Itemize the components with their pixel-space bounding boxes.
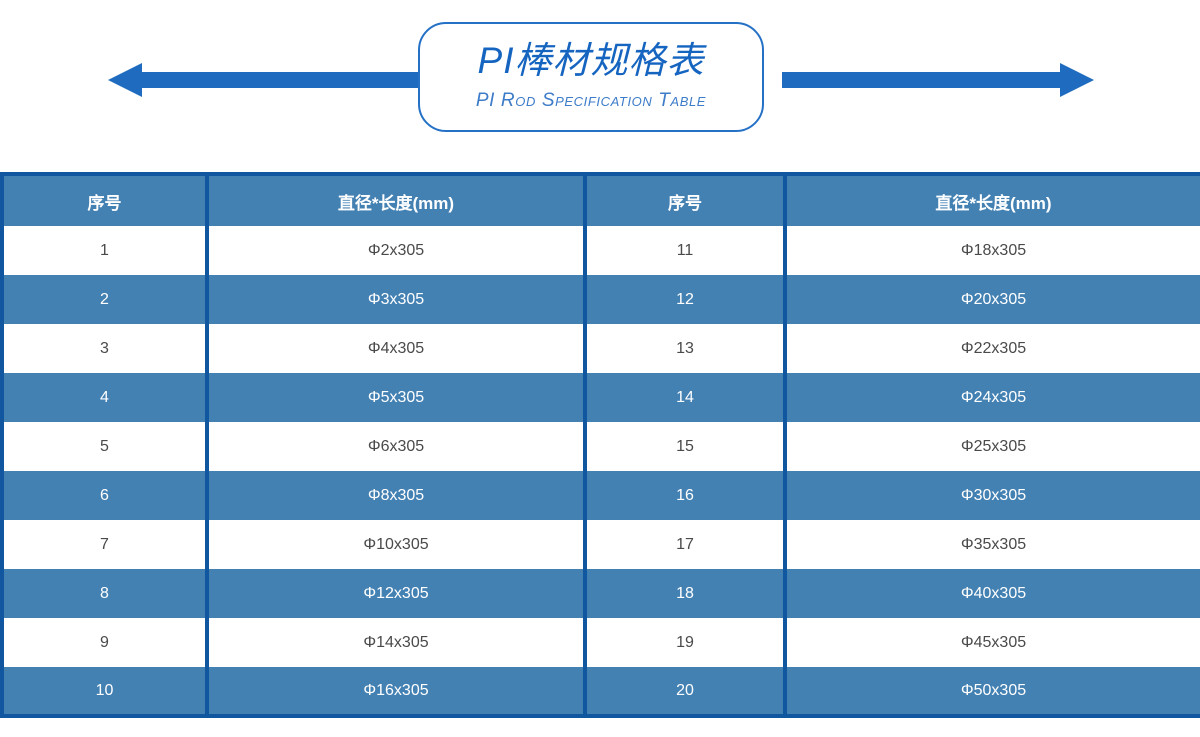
left-arrow-bar [140, 72, 420, 88]
cell-spec-left: Φ2x305 [207, 226, 585, 275]
cell-no-right: 11 [585, 226, 785, 275]
cell-no-right: 16 [585, 471, 785, 520]
table-row: 5Φ6x30515Φ25x305 [2, 422, 1200, 471]
cell-spec-right: Φ45x305 [785, 618, 1200, 667]
cell-spec-right: Φ20x305 [785, 275, 1200, 324]
table-header-row: 序号 直径*长度(mm) 序号 直径*长度(mm) [2, 174, 1200, 226]
cell-no-left: 10 [2, 667, 207, 716]
cell-spec-left: Φ16x305 [207, 667, 585, 716]
title-banner: PI棒材规格表 PI Rod Specification Table [418, 22, 764, 132]
spec-table-container: 序号 直径*长度(mm) 序号 直径*长度(mm) 1Φ2x30511Φ18x3… [0, 172, 1200, 718]
cell-spec-right: Φ25x305 [785, 422, 1200, 471]
page-subtitle: PI Rod Specification Table [476, 90, 706, 112]
left-arrow-icon [0, 72, 420, 88]
cell-no-right: 13 [585, 324, 785, 373]
cell-spec-left: Φ4x305 [207, 324, 585, 373]
cell-no-left: 1 [2, 226, 207, 275]
cell-no-right: 17 [585, 520, 785, 569]
table-row: 8Φ12x30518Φ40x305 [2, 569, 1200, 618]
cell-no-left: 5 [2, 422, 207, 471]
cell-no-left: 2 [2, 275, 207, 324]
cell-spec-right: Φ30x305 [785, 471, 1200, 520]
table-row: 7Φ10x30517Φ35x305 [2, 520, 1200, 569]
table-row: 6Φ8x30516Φ30x305 [2, 471, 1200, 520]
cell-no-left: 4 [2, 373, 207, 422]
page-header: PI棒材规格表 PI Rod Specification Table [0, 0, 1200, 172]
right-arrow-icon [782, 72, 1200, 88]
cell-no-right: 15 [585, 422, 785, 471]
cell-spec-left: Φ6x305 [207, 422, 585, 471]
cell-spec-left: Φ5x305 [207, 373, 585, 422]
table-row: 1Φ2x30511Φ18x305 [2, 226, 1200, 275]
cell-spec-left: Φ14x305 [207, 618, 585, 667]
cell-spec-right: Φ18x305 [785, 226, 1200, 275]
cell-spec-right: Φ22x305 [785, 324, 1200, 373]
table-header: 序号 直径*长度(mm) 序号 直径*长度(mm) [2, 174, 1200, 226]
cell-no-right: 14 [585, 373, 785, 422]
column-header-no-right: 序号 [585, 174, 785, 226]
cell-spec-left: Φ12x305 [207, 569, 585, 618]
cell-no-left: 8 [2, 569, 207, 618]
cell-spec-right: Φ50x305 [785, 667, 1200, 716]
column-header-no-left: 序号 [2, 174, 207, 226]
cell-no-right: 19 [585, 618, 785, 667]
right-arrow-bar [782, 72, 1062, 88]
page-title: PI棒材规格表 [478, 42, 705, 81]
table-row: 10Φ16x30520Φ50x305 [2, 667, 1200, 716]
cell-spec-right: Φ24x305 [785, 373, 1200, 422]
cell-no-left: 7 [2, 520, 207, 569]
table-row: 4Φ5x30514Φ24x305 [2, 373, 1200, 422]
column-header-spec-right: 直径*长度(mm) [785, 174, 1200, 226]
spec-table: 序号 直径*长度(mm) 序号 直径*长度(mm) 1Φ2x30511Φ18x3… [0, 172, 1200, 718]
cell-spec-left: Φ8x305 [207, 471, 585, 520]
cell-spec-left: Φ10x305 [207, 520, 585, 569]
cell-no-left: 6 [2, 471, 207, 520]
table-body: 1Φ2x30511Φ18x3052Φ3x30512Φ20x3053Φ4x3051… [2, 226, 1200, 716]
cell-no-left: 3 [2, 324, 207, 373]
table-row: 2Φ3x30512Φ20x305 [2, 275, 1200, 324]
left-arrow-head [108, 63, 142, 97]
cell-no-right: 18 [585, 569, 785, 618]
cell-no-right: 12 [585, 275, 785, 324]
column-header-spec-left: 直径*长度(mm) [207, 174, 585, 226]
cell-no-right: 20 [585, 667, 785, 716]
cell-no-left: 9 [2, 618, 207, 667]
table-row: 9Φ14x30519Φ45x305 [2, 618, 1200, 667]
right-arrow-head [1060, 63, 1094, 97]
cell-spec-right: Φ35x305 [785, 520, 1200, 569]
cell-spec-left: Φ3x305 [207, 275, 585, 324]
cell-spec-right: Φ40x305 [785, 569, 1200, 618]
table-row: 3Φ4x30513Φ22x305 [2, 324, 1200, 373]
